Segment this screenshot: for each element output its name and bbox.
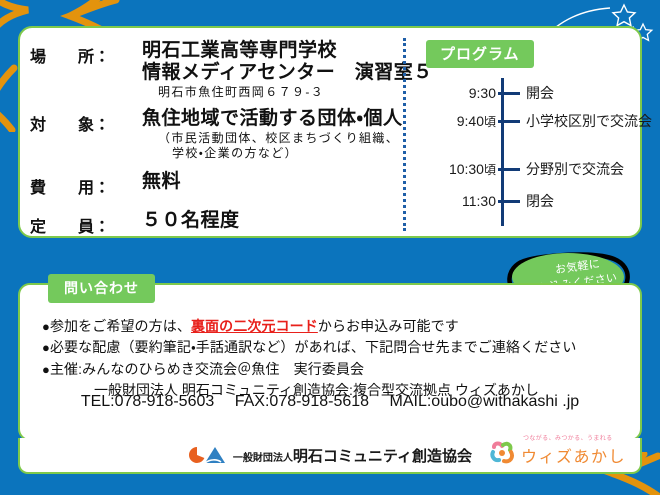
program-badge: プログラム [426,40,534,68]
timeline-time-value: 10:30 [449,161,484,177]
info-row-place-value-line2: 情報メディアセンター 演習室５ [142,62,433,84]
program-section: プログラム 9:30 開会 9:40頃 小学校区別で交流会 10:30頃 分野別… [420,28,644,236]
contact-bullet-item: ●主催:みんなのひらめき交流会＠魚住 実行委員会 [42,359,630,380]
contact-bullet-item: ●参加をご希望の方は、裏面の二次元コードからお申込み可能です [42,316,630,337]
timeline-item-time: 9:30 [426,85,498,101]
info-row-fee: 費 用： 無料 [30,171,418,198]
info-row-target: 対 象： 魚住地域で活動する団体・個人 （市民活動団体、校区まちづくり組織、 学… [30,108,418,162]
contact-bullet-item: ●必要な配慮（要約筆記・手話通訳など）があれば、下記問合せ先までご連絡ください [42,337,630,358]
withakashi-name: ウィズあかし [521,443,626,467]
bullet-text-pre: 必要な配慮（要約筆記・手話通訳など）があれば、下記問合せ先までご連絡ください [50,339,577,355]
bullet-text-pre: 主催:みんなのひらめき交流会＠魚住 実行委員会 [50,361,364,377]
timeline-item: 9:40頃 小学校区別で交流会 [426,110,644,132]
contact-badge: 問い合わせ [48,274,155,303]
withakashi-logo-mark-icon [490,441,516,470]
timeline-item: 9:30 開会 [426,82,644,104]
info-row-fee-label: 費 用： [30,171,142,198]
flyer-canvas: 場 所： 明石工業高等専門学校 情報メディアセンター 演習室５ 明石市魚住町西岡… [0,0,660,495]
timeline-tick-icon [498,120,520,123]
bullet-text-pre: 参加をご希望の方は、 [50,318,191,334]
timeline-item-time: 10:30頃 [426,161,498,178]
timeline-item-label: 閉会 [520,191,644,211]
akashi-community-logo-mark-icon [187,445,227,465]
logo-prefix: 一般財団法人 [233,453,293,464]
timeline-item-label: 開会 [520,83,644,103]
program-timeline: 9:30 開会 9:40頃 小学校区別で交流会 10:30頃 分野別で交流会 1… [426,78,644,226]
vertical-dotted-divider [403,38,406,231]
timeline-time-value: 9:40 [457,113,484,129]
mail-value[interactable]: MAIL:oubo@withakashi .jp [390,393,580,410]
info-row-capacity: 定 員： ５０名程度 [30,210,418,237]
info-row-place-label: 場 所： [30,40,142,67]
contact-bullet-list: ●参加をご希望の方は、裏面の二次元コードからお申込み可能です ●必要な配慮（要約… [42,316,630,400]
contact-panel: 問い合わせ ●参加をご希望の方は、裏面の二次元コードからお申込み可能です ●必要… [18,283,642,441]
akashi-community-logo-text: 一般財団法人明石コミュニティ創造協会 [233,445,472,466]
bullet-text-post: からお申込み可能です [318,318,459,334]
fax-value: FAX:078-918-5618 [235,393,369,410]
timeline-time-suffix: 頃 [484,115,496,129]
timeline-tick-icon [498,92,520,95]
timeline-item-time: 9:40頃 [426,113,498,130]
info-panel: 場 所： 明石工業高等専門学校 情報メディアセンター 演習室５ 明石市魚住町西岡… [18,26,642,238]
info-row-target-label: 対 象： [30,108,142,135]
withakashi-text-block: つながる、みつかる、うまれる ウィズあかし [521,443,626,467]
bullet-dot-icon: ● [42,340,50,355]
timeline-tick-icon [498,168,520,171]
bullet-dot-icon: ● [42,319,50,334]
qr-code-link[interactable]: 裏面の二次元コード [191,318,318,334]
timeline-item-time: 11:30 [426,193,498,209]
info-row-target-value: 魚住地域で活動する団体・個人 [142,108,418,130]
timeline-item-label: 分野別で交流会 [520,159,644,179]
info-row-place: 場 所： 明石工業高等専門学校 情報メディアセンター 演習室５ 明石市魚住町西岡… [30,40,418,100]
withakashi-tagline: つながる、みつかる、うまれる [523,433,613,442]
bullet-dot-icon: ● [42,362,50,377]
tel-value[interactable]: TEL:078-918-5603 [81,393,214,410]
timeline-time-value: 11:30 [462,193,496,209]
timeline-time-suffix: 頃 [484,163,496,177]
info-row-fee-value: 無料 [142,171,418,193]
timeline-item: 10:30頃 分野別で交流会 [426,158,644,180]
timeline-item: 11:30 閉会 [426,190,644,212]
info-row-capacity-value: ５０名程度 [142,210,418,232]
info-row-target-note-line2: 学校・企業の方など） [142,146,418,162]
info-row-target-note-line1: （市民活動団体、校区まちづくり組織、 [142,131,418,147]
info-row-place-value-line1: 明石工業高等専門学校 [142,40,433,62]
contact-details-line: TEL:078-918-5603 FAX:078-918-5618 MAIL:o… [20,393,640,411]
akashi-community-logo: 一般財団法人明石コミュニティ創造協会 [187,445,472,466]
withakashi-logo: つながる、みつかる、うまれる ウィズあかし [490,441,626,470]
info-row-capacity-label: 定 員： [30,210,142,237]
timeline-item-label: 小学校区別で交流会 [520,111,652,131]
info-row-place-address: 明石市魚住町西岡６７９‐３ [142,85,433,101]
footer-logo-band: 一般財団法人明石コミュニティ創造協会 つながる、みつかる、うまれる ウィズあかし [18,438,642,474]
timeline-time-value: 9:30 [469,85,496,101]
info-rows: 場 所： 明石工業高等専門学校 情報メディアセンター 演習室５ 明石市魚住町西岡… [20,28,418,236]
timeline-tick-icon [498,200,520,203]
logo-name: 明石コミュニティ創造協会 [293,448,472,465]
